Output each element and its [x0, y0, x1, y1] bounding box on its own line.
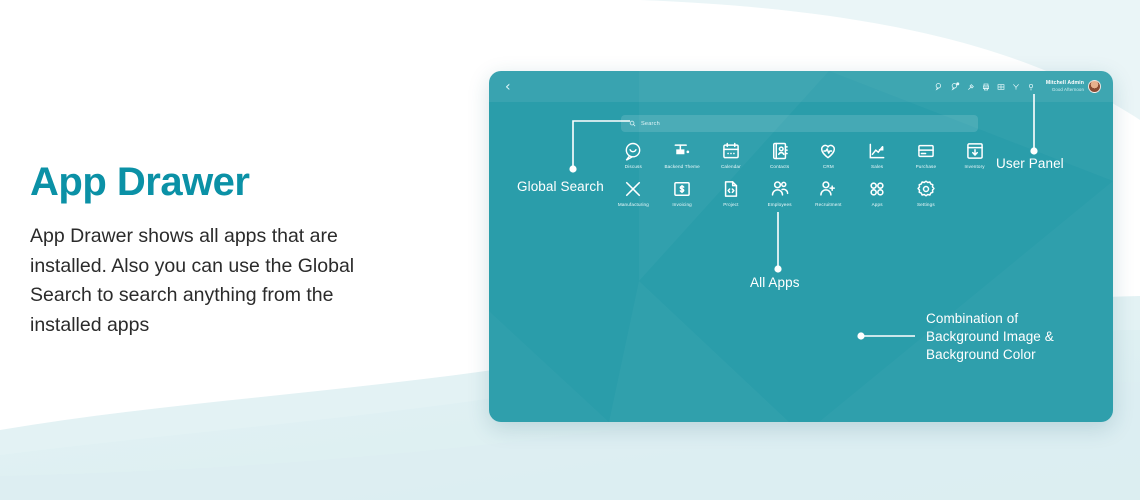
chevron-left-icon[interactable]: ‹ [505, 80, 511, 94]
app-drawer-panel: ‹ Mitc [489, 71, 1113, 422]
app-item-backend-theme[interactable]: Backend Theme [658, 141, 707, 169]
app-item-settings[interactable]: Settings [902, 179, 951, 207]
app-label: Manufacturing [618, 202, 649, 207]
app-label: Contacts [770, 164, 789, 169]
systray: Mitchell Admin Good Afternoon [935, 80, 1101, 93]
app-label: Recruitment [815, 202, 841, 207]
app-label: Settings [917, 202, 935, 207]
project-code-icon [721, 179, 741, 199]
purchase-card-icon [916, 141, 936, 161]
employees-icon [770, 179, 790, 199]
inventory-box-icon [965, 141, 985, 161]
backend-theme-icon [672, 141, 692, 161]
app-label: Apps [872, 202, 883, 207]
search-placeholder: Search [641, 121, 660, 127]
discuss-icon [623, 141, 643, 161]
app-item-contacts[interactable]: Contacts [755, 141, 804, 169]
search-icon [629, 120, 636, 127]
app-label: Invoicing [672, 202, 691, 207]
settings-gear-icon [916, 179, 936, 199]
user-text: Mitchell Admin Good Afternoon [1046, 81, 1084, 92]
app-label: Inventory [965, 164, 985, 169]
app-item-apps[interactable]: Apps [853, 179, 902, 207]
debug-icon[interactable] [967, 83, 975, 91]
grid-icon[interactable] [997, 83, 1005, 91]
user-greeting: Good Afternoon [1046, 87, 1084, 92]
search-input[interactable]: Search [621, 115, 978, 132]
app-label: CRM [823, 164, 834, 169]
drawer-header: ‹ Mitc [489, 71, 1113, 102]
calendar-icon [721, 141, 741, 161]
page-description: App Drawer shows all apps that are insta… [30, 222, 390, 341]
app-item-employees[interactable]: Employees [755, 179, 804, 207]
app-item-purchase[interactable]: Purchase [902, 141, 951, 169]
app-item-sales[interactable]: Sales [853, 141, 902, 169]
contacts-icon [770, 141, 790, 161]
app-item-inventory[interactable]: Inventory [950, 141, 999, 169]
apps-dots-icon [867, 179, 887, 199]
app-item-project[interactable]: Project [707, 179, 756, 207]
bulb-icon[interactable] [1027, 83, 1035, 91]
app-item-invoicing[interactable]: Invoicing [658, 179, 707, 207]
crm-heart-icon [818, 141, 838, 161]
app-label: Calendar [721, 164, 741, 169]
recruitment-add-user-icon [818, 179, 838, 199]
left-text-column: App Drawer App Drawer shows all apps tha… [30, 160, 430, 341]
messages-icon[interactable] [935, 82, 944, 91]
invoicing-dollar-icon [672, 179, 692, 199]
app-label: Project [723, 202, 738, 207]
activities-icon[interactable] [951, 82, 960, 91]
tools-icon[interactable] [1012, 83, 1020, 91]
app-label: Discuss [625, 164, 642, 169]
app-item-crm[interactable]: CRM [804, 141, 853, 169]
app-label: Backend Theme [664, 164, 699, 169]
print-icon[interactable] [982, 83, 990, 91]
app-item-discuss[interactable]: Discuss [609, 141, 658, 169]
user-panel[interactable]: Mitchell Admin Good Afternoon [1046, 80, 1101, 93]
app-label: Employees [768, 202, 792, 207]
manufacturing-tools-icon [623, 179, 643, 199]
sales-chart-icon [867, 141, 887, 161]
avatar[interactable] [1088, 80, 1101, 93]
app-label: Purchase [916, 164, 937, 169]
app-item-calendar[interactable]: Calendar [707, 141, 756, 169]
app-item-manufacturing[interactable]: Manufacturing [609, 179, 658, 207]
app-grid: Discuss Backend Theme Calendar [609, 141, 999, 207]
page-title: App Drawer [30, 160, 430, 204]
app-label: Sales [871, 164, 883, 169]
app-item-recruitment[interactable]: Recruitment [804, 179, 853, 207]
